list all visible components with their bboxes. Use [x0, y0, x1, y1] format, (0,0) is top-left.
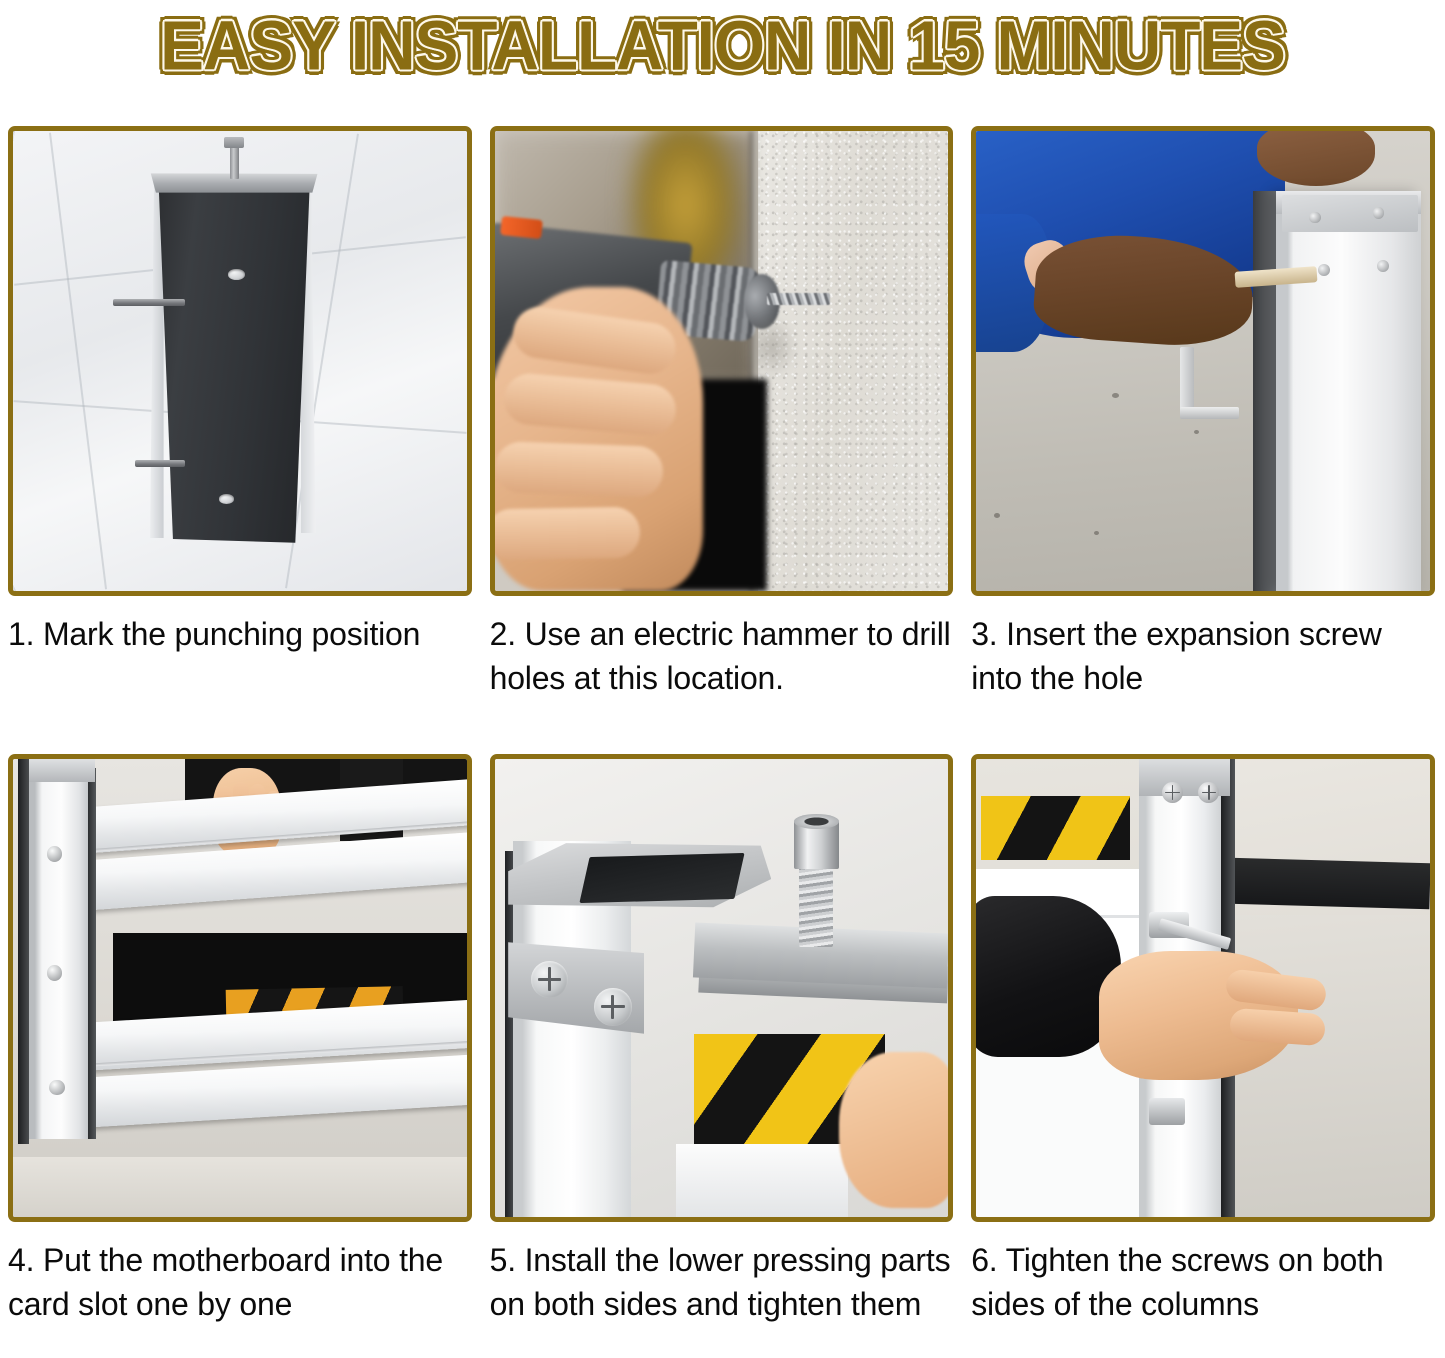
mounting-hole-lower [219, 494, 234, 503]
step-caption-5: 5. Install the lower pressing parts on b… [490, 1238, 954, 1358]
column-post [1276, 191, 1421, 591]
step-card-4: 4. Put the motherboard into the card slo… [0, 754, 482, 1358]
hazard-stripe-tape [981, 796, 1131, 860]
step-card-6: 6. Tighten the screws on both sides of t… [963, 754, 1445, 1358]
drill-bit [767, 293, 831, 305]
steps-row-top: 1. Mark the punching position [0, 126, 1445, 732]
photo-frame-5 [490, 754, 954, 1222]
photo-insert-boards-into-slot [13, 759, 467, 1217]
barrier-board [676, 1144, 848, 1217]
bracket-slot [580, 853, 745, 903]
photo-frame-3 [971, 126, 1435, 596]
photo-frame-2 [490, 126, 954, 596]
step-card-1: 1. Mark the punching position [0, 126, 482, 732]
allen-key-horizontal [1180, 407, 1239, 419]
column-bolt-2 [47, 965, 62, 981]
photo-tighten-column-screws [976, 759, 1430, 1217]
step-caption-6: 6. Tighten the screws on both sides of t… [971, 1238, 1435, 1358]
step-caption-2: 2. Use an electric hammer to drill holes… [490, 612, 954, 732]
mounting-hole-upper [228, 269, 244, 280]
screw-thread [799, 864, 833, 946]
photo-frame-4 [8, 754, 472, 1222]
mounting-stud-lower [135, 460, 185, 467]
page-title: EASY INSTALLATION IN 15 MINUTES [160, 6, 1285, 86]
step-caption-1: 1. Mark the punching position [8, 612, 472, 732]
step-card-2: 2. Use an electric hammer to drill holes… [482, 126, 964, 732]
allen-key-vertical [1180, 347, 1194, 416]
photo-frame-1 [8, 126, 472, 596]
step-caption-3: 3. Insert the expansion screw into the h… [971, 612, 1435, 732]
photo-install-pressing-parts [495, 759, 949, 1217]
photo-drill-holes [495, 131, 949, 591]
column-bolt-1 [47, 846, 62, 862]
hand [839, 1052, 948, 1208]
column-bolt-3 [49, 1080, 64, 1096]
step-card-5: 5. Install the lower pressing parts on b… [482, 754, 964, 1358]
steps-grid: 1. Mark the punching position [0, 126, 1445, 1358]
column-screw-lower [1149, 1098, 1185, 1125]
column-screw-top-left [1162, 782, 1183, 803]
mounting-stud-upper [113, 299, 186, 306]
phillips-screw-2 [594, 988, 631, 1026]
step-card-3: 3. Insert the expansion screw into the h… [963, 126, 1445, 732]
phillips-screw-1 [531, 961, 568, 999]
base-plate [154, 179, 315, 542]
photo-insert-expansion-screw [976, 131, 1430, 591]
step-caption-4: 4. Put the motherboard into the card slo… [8, 1238, 472, 1358]
floor [13, 1157, 467, 1217]
steps-row-bottom: 4. Put the motherboard into the card slo… [0, 754, 1445, 1358]
photo-frame-6 [971, 754, 1435, 1222]
photo-mark-punching-position [13, 131, 467, 591]
header-banner: EASY INSTALLATION IN 15 MINUTES [0, 0, 1445, 92]
